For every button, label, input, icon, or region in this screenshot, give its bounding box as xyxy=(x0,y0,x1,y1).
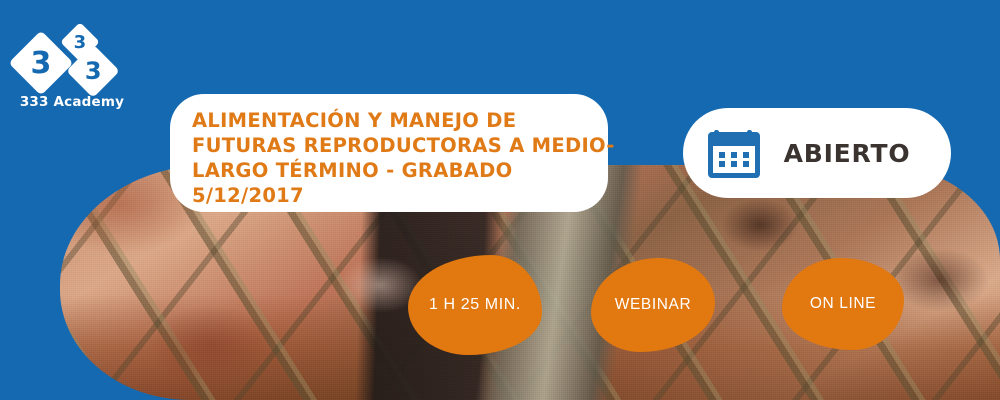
status-card: ABIERTO xyxy=(683,108,951,198)
course-title-card: ALIMENTACIÓN Y MANEJO DE FUTURAS REPRODU… xyxy=(170,94,608,212)
333-academy-logo[interactable]: 3 3 3 333 Academy xyxy=(14,22,134,112)
status-badge-label: ABIERTO xyxy=(761,139,951,168)
course-date: 5/12/2017 xyxy=(192,183,582,208)
logo-diamond-1-label: 3 xyxy=(31,46,52,81)
logo-wordmark: 333 Academy xyxy=(14,94,130,110)
logo-diamond-2-label: 3 xyxy=(74,32,87,53)
mode-badge: ON LINE xyxy=(782,258,904,350)
logo-diamond-3-label: 3 xyxy=(85,57,102,85)
course-title-line-1: ALIMENTACIÓN Y MANEJO DE xyxy=(192,108,582,133)
course-banner: 3 3 3 333 Academy ALIMENTACIÓN Y MANEJO … xyxy=(0,0,1000,400)
duration-badge-label: 1 H 25 MIN. xyxy=(429,296,521,314)
course-title-line-2: FUTURAS REPRODUCTORAS A MEDIO- xyxy=(192,133,582,158)
course-title-line-3: LARGO TÉRMINO - GRABADO xyxy=(192,158,582,183)
mode-badge-label: ON LINE xyxy=(810,295,876,313)
calendar-icon xyxy=(707,127,761,179)
format-badge-label: WEBINAR xyxy=(615,296,692,314)
